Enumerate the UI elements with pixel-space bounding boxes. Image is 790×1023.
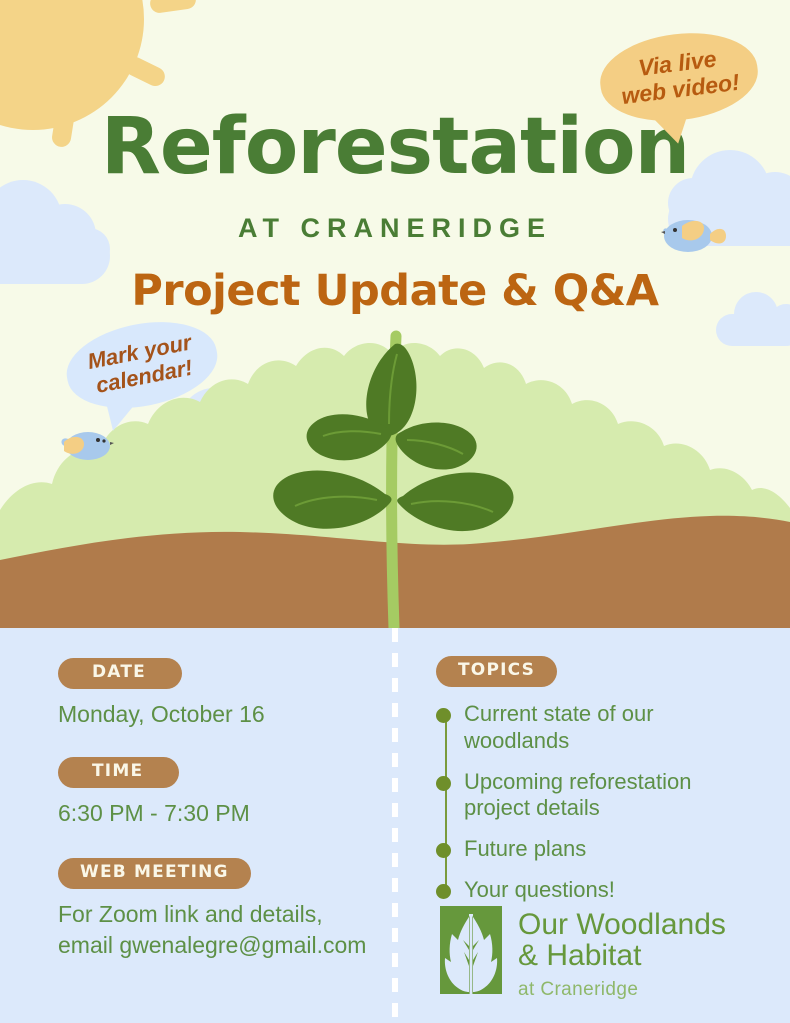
topic-label: Your questions!: [464, 877, 615, 904]
poster-canvas: Reforestation AT CRANERIDGE Project Upda…: [0, 0, 790, 1023]
column-divider: [392, 628, 398, 1023]
topic-label: Upcoming reforestation project details: [464, 769, 756, 823]
topic-label: Future plans: [464, 836, 586, 863]
topics-badge: TOPICS: [436, 656, 557, 687]
web-meeting-badge: WEB MEETING: [58, 858, 251, 889]
leaf-logo-icon: [440, 906, 502, 994]
topics-list: Current state of our woodlands Upcoming …: [436, 701, 756, 904]
bullet-dot-icon: [436, 843, 451, 858]
sun-ray-icon: [149, 0, 197, 14]
bullet-dot-icon: [436, 884, 451, 899]
date-value: Monday, October 16: [58, 699, 378, 729]
topic-label: Current state of our woodlands: [464, 701, 756, 755]
web-meeting-value: For Zoom link and details, email gwenale…: [58, 899, 378, 960]
poster-subtitle: AT CRANERIDGE: [0, 213, 790, 244]
bubble-tail-icon: [105, 401, 138, 432]
logo-name: Our Woodlands & Habitat: [518, 910, 726, 972]
topics-column: TOPICS Current state of our woodlands Up…: [436, 656, 756, 918]
event-details-column: DATE Monday, October 16 TIME 6:30 PM - 7…: [58, 658, 378, 960]
speech-bubble-video-text: Via live web video!: [617, 44, 741, 110]
logo-text-block: Our Woodlands & Habitat at Craneridge: [518, 906, 726, 1001]
organization-logo: Our Woodlands & Habitat at Craneridge: [440, 906, 726, 1001]
speech-bubble-calendar-text: Mark your calendar!: [86, 331, 199, 399]
time-badge: TIME: [58, 757, 179, 788]
sun-ray-icon: [122, 54, 168, 89]
list-item: Current state of our woodlands: [436, 701, 756, 755]
time-value: 6:30 PM - 7:30 PM: [58, 798, 378, 828]
list-item: Future plans: [436, 836, 756, 863]
bullet-dot-icon: [436, 776, 451, 791]
sapling-icon: [255, 320, 535, 628]
list-item: Upcoming reforestation project details: [436, 769, 756, 823]
bullet-dot-icon: [436, 708, 451, 723]
logo-subtitle: at Craneridge: [518, 979, 726, 1001]
poster-tagline: Project Update & Q&A: [0, 266, 790, 316]
list-item: Your questions!: [436, 877, 756, 904]
date-badge: DATE: [58, 658, 182, 689]
